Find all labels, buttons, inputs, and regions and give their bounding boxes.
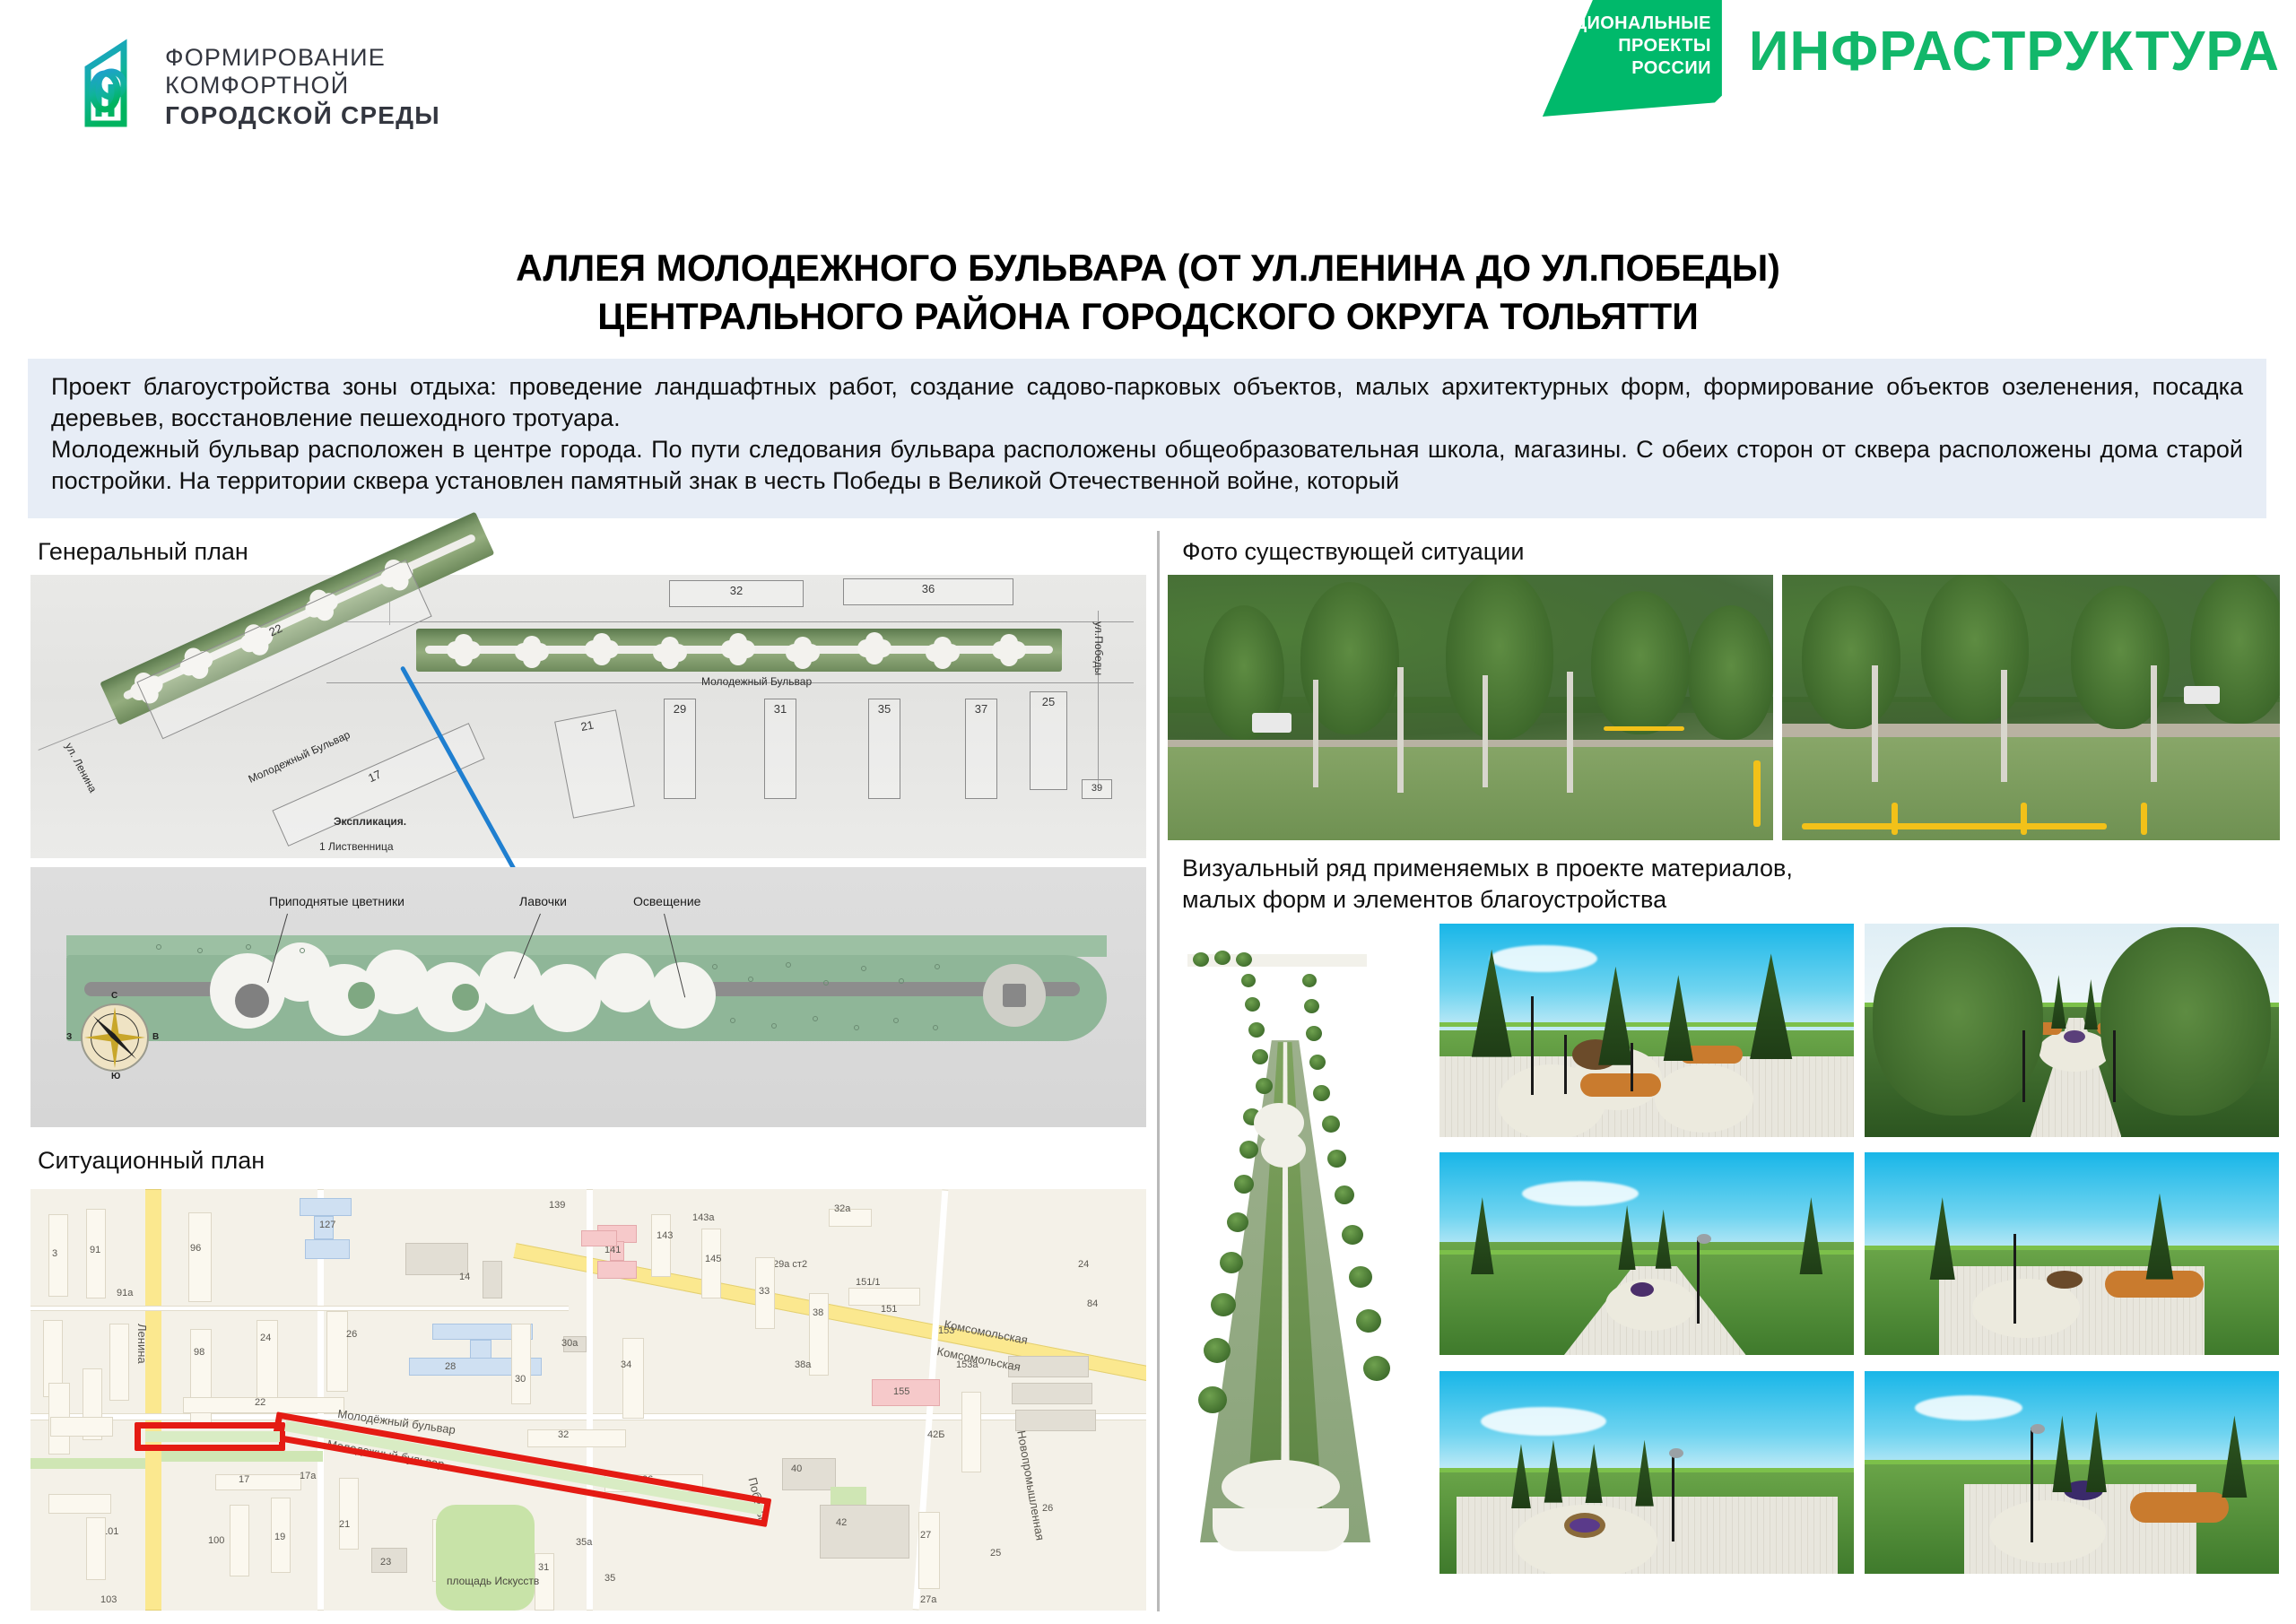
np-badge-line-3: РОССИИ xyxy=(1631,59,1711,78)
detail-plan-drawing: Приподнятые цветники Лавочки Освещение С xyxy=(30,867,1146,1127)
building-bookmark-icon xyxy=(72,38,143,136)
aerial-overview-render xyxy=(1168,924,1423,1578)
boulevard-label-diagonal: Молодежный Бульвар xyxy=(247,728,352,786)
legend-title: Экспликация. xyxy=(334,815,406,828)
page-header: ФОРМИРОВАНИЕ КОМФОРТНОЙ ГОРОДСКОЙ СРЕДЫ … xyxy=(0,0,2296,193)
left-column: Генеральный план xyxy=(18,529,1152,1614)
np-badge-line-1: НАЦИОНАЛЬНЫЕ xyxy=(1547,14,1711,33)
logo-line-1: ФОРМИРОВАНИЕ xyxy=(165,44,440,73)
visual-materials-label-line-2: малых форм и элементов благоустройства xyxy=(1182,886,1666,913)
plan-building: 17 xyxy=(272,723,484,847)
logo-line-3: ГОРОДСКОЙ СРЕДЫ xyxy=(165,100,440,130)
park-ploschad-iskusstv xyxy=(436,1505,535,1611)
plan-building: 31 xyxy=(764,699,796,799)
plan-building: 21 xyxy=(554,709,635,818)
page-title-line-2: ЦЕНТРАЛЬНОГО РАЙОНА ГОРОДСКОГО ОКРУГА ТО… xyxy=(23,292,2274,341)
main-content: Генеральный план xyxy=(18,529,2282,1614)
map-street-lenina: Ленина xyxy=(135,1324,149,1364)
render-flowerbed-lamp xyxy=(1439,1371,1854,1574)
page-title: АЛЛЕЯ МОЛОДЕЖНОГО БУЛЬВАРА (ОТ УЛ.ЛЕНИНА… xyxy=(0,244,2296,341)
situation-plan-label: Ситуационный план xyxy=(18,1127,1152,1184)
existing-photos-row xyxy=(1168,575,2280,840)
logo-line-2: КОМФОРТНОЙ xyxy=(165,72,440,100)
render-alley-paving xyxy=(1439,1152,1854,1355)
plan-building: 36 xyxy=(843,578,1013,605)
street-lenina xyxy=(145,1189,161,1611)
render-gallery xyxy=(1439,924,2280,1578)
logo-national-projects: НАЦИОНАЛЬНЫЕ ПРОЕКТЫ РОССИИ ИНФРАСТРУКТУ… xyxy=(1543,0,2280,117)
compass-east-label: В xyxy=(152,1032,159,1042)
render-plaza-flower-benches xyxy=(1439,924,1854,1137)
boulevard-strip-horizontal xyxy=(416,629,1062,672)
legend-item-1: 1 Лиственница xyxy=(319,840,394,853)
plan-building: 25 xyxy=(1030,691,1067,790)
place-label-ploschad-iskusstv: площадь Искусств xyxy=(447,1575,539,1587)
park-photo-birches-path xyxy=(1168,575,1773,840)
plan-building: 32 xyxy=(669,580,804,607)
render-alley-lamp-trees xyxy=(1865,1371,2279,1574)
plan-building: 37 xyxy=(965,699,997,799)
callout-raised-flowerbeds: Приподнятые цветники xyxy=(269,894,404,908)
national-projects-badge-icon: НАЦИОНАЛЬНЫЕ ПРОЕКТЫ РОССИИ xyxy=(1543,0,1722,117)
description-paragraph-2: Молодежный бульвар расположен в центре г… xyxy=(51,434,2243,497)
poster-page: ФОРМИРОВАНИЕ КОМФОРТНОЙ ГОРОДСКОЙ СРЕДЫ … xyxy=(0,0,2296,1624)
plan-building: 35 xyxy=(868,699,900,799)
existing-photos-label: Фото существующей ситуации xyxy=(1162,529,2280,575)
callout-benches: Лавочки xyxy=(519,894,567,908)
compass-north-label: С xyxy=(111,991,117,1001)
compass-south-label: Ю xyxy=(111,1072,120,1081)
plan-building: 39 xyxy=(1082,779,1112,799)
np-badge-line-2: ПРОЕКТЫ xyxy=(1618,37,1711,56)
callout-lighting: Освещение xyxy=(633,894,700,908)
general-plan-drawing: 22 17 21 32 36 25 29 31 35 37 39 ул. Лен… xyxy=(30,575,1146,858)
np-program-title: ИНФРАСТРУКТУРА xyxy=(1749,20,2280,83)
compass-rose-icon: С Ю З В xyxy=(81,1003,149,1072)
street-label-lenina: ул. Ленина xyxy=(63,741,100,795)
page-title-line-1: АЛЛЕЯ МОЛОДЕЖНОГО БУЛЬВАРА (ОТ УЛ.ЛЕНИНА… xyxy=(23,244,2274,292)
situation-plan-map: 3 91 91а 97 99 20 15 101 103 96 xyxy=(30,1189,1146,1611)
compass-west-label: З xyxy=(66,1032,72,1042)
visual-materials-label: Визуальный ряд применяемых в проекте мат… xyxy=(1162,840,2280,924)
description-paragraph-1: Проект благоустройства зоны отдыха: пров… xyxy=(51,371,2243,434)
right-column: Фото существующей ситуации xyxy=(1162,529,2280,1614)
boulevard-label-horizontal: Молодежный Бульвар xyxy=(701,675,812,688)
project-description: Проект благоустройства зоны отдыха: пров… xyxy=(28,359,2266,518)
render-plaza-curved-bench xyxy=(1865,1152,2279,1355)
street-label-pobedy: ул.Победы xyxy=(1092,621,1105,675)
render-alley-perspective xyxy=(1865,924,2279,1137)
general-plan-label: Генеральный план xyxy=(18,529,1152,575)
visual-materials-label-line-1: Визуальный ряд применяемых в проекте мат… xyxy=(1182,855,1793,881)
logo-formirovanie-komfortnoy-gorodskoy-sredy: ФОРМИРОВАНИЕ КОМФОРТНОЙ ГОРОДСКОЙ СРЕДЫ xyxy=(72,38,440,136)
plan-building: 29 xyxy=(664,699,696,799)
park-photo-bench-road xyxy=(1782,575,2280,840)
